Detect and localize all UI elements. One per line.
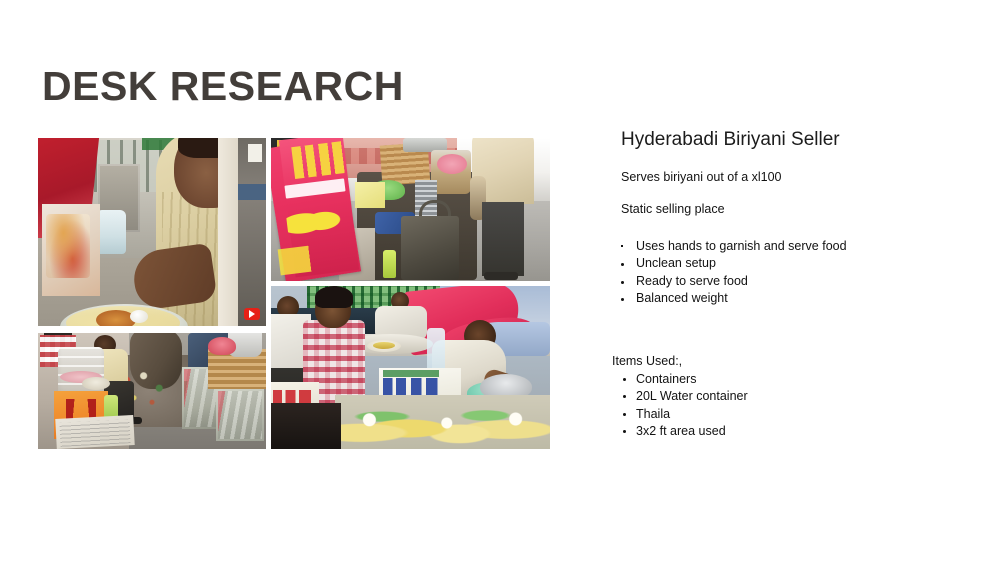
photo-standing-vendor [468,138,538,281]
photo-blue-stripe [238,184,266,200]
photo-banner-telugu-text [291,141,347,179]
photo-thaila-bag [401,216,459,280]
photo-plate-food [373,342,395,349]
list-item: Unclean setup [612,256,962,271]
lead-line-static: Static selling place [621,201,962,217]
photo-yellow-cloth [355,182,385,208]
photo-menu-food-image [46,214,90,278]
slide-canvas: DESK RESEARCH [0,0,1000,563]
photo-paper-notice [248,144,262,162]
photo-cart-banner [271,138,550,281]
photo-stall-post [218,138,240,326]
content-column: Hyderabadi Biriyani Seller Serves biriya… [612,128,962,440]
photo-plate [82,377,110,390]
photo-second-bag-stripes [218,391,262,439]
photo-red-bowl [208,337,236,355]
photo-eggs [335,403,550,443]
photo-water-jug [96,210,126,254]
list-item: Ready to serve food [612,274,962,289]
list-item: 3x2 ft area used [612,423,962,439]
photo-vendor-pants [482,202,524,276]
list-item: 20L Water container [612,388,962,404]
photo-vendor-sandal [484,272,518,280]
items-used-label: Items Used:, [612,353,962,369]
photo-street-setup [38,333,266,449]
photo-rice-sack-green-band [383,370,439,377]
play-badge-icon [244,308,260,320]
photo-right-wall [238,138,266,326]
observations-list: Uses hands to garnish and serve food Unc… [612,239,962,306]
list-item: Balanced weight [612,291,962,306]
list-item: Containers [612,371,962,387]
photo-pink-cover [437,154,467,174]
page-title: DESK RESEARCH [42,64,404,109]
photo-boiled-egg [130,310,148,323]
photo-plaid-customer-hair [315,286,353,308]
photo-foreground-shadow [271,403,341,449]
list-item: Uses hands to garnish and serve food [612,239,962,254]
photo-newsprint [59,419,130,447]
photo-vendor-plate [38,138,266,326]
lead-line-serves: Serves biriyani out of a xl100 [621,169,962,185]
items-used-list: Containers 20L Water container Thaila 3x… [612,371,962,439]
photo-water-bottle [383,250,396,278]
list-item: Thaila [612,406,962,422]
photo-stall-crowd [271,286,550,449]
photo-banner-price-text [285,201,343,243]
content-heading: Hyderabadi Biriyani Seller [621,128,962,152]
